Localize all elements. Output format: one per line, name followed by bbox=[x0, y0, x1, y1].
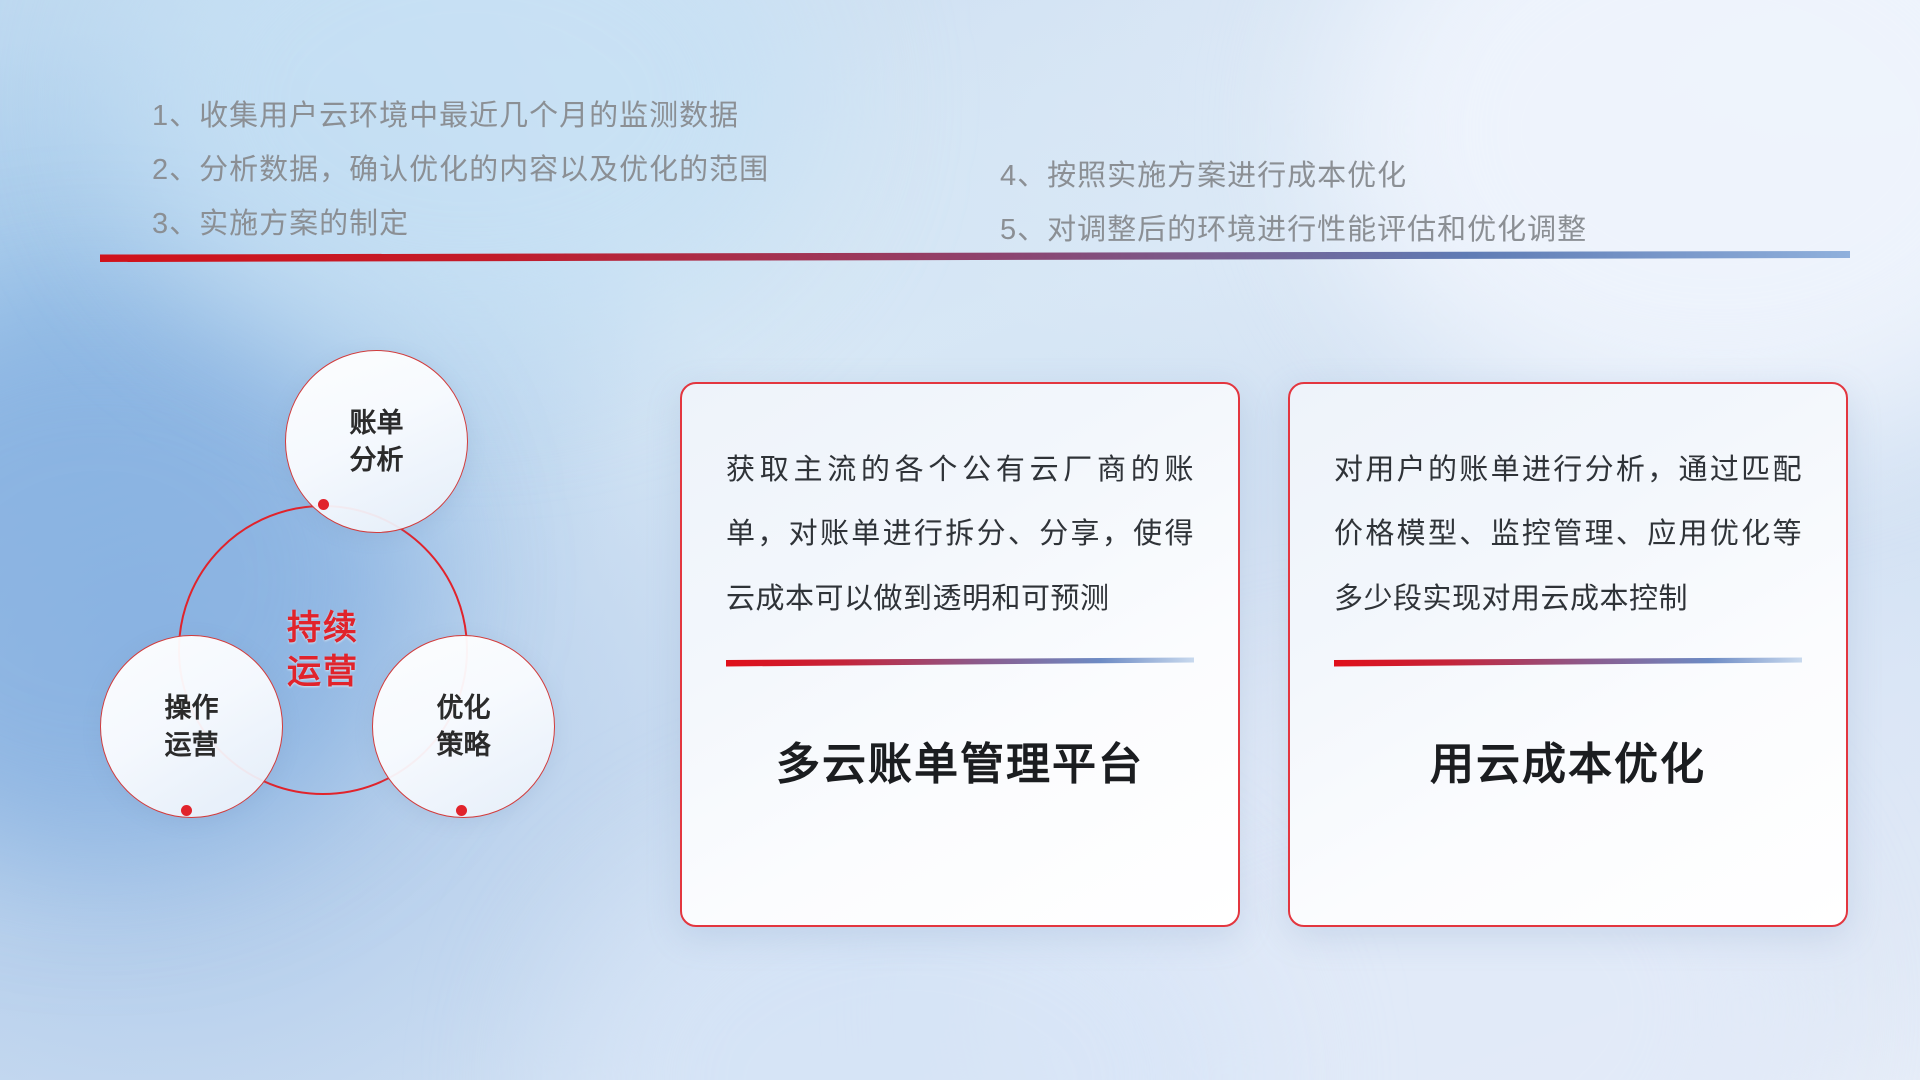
step-item: 3、实施方案的制定 bbox=[152, 210, 769, 239]
feature-card-cloud-cost-optimization[interactable]: 对用户的账单进行分析，通过匹配价格模型、监控管理、应用优化等多少段实现对用云成本… bbox=[1288, 382, 1848, 927]
step-item: 5、对调整后的环境进行性能评估和优化调整 bbox=[1000, 216, 1587, 245]
steps-left-column: 1、收集用户云环境中最近几个月的监测数据 2、分析数据，确认优化的内容以及优化的… bbox=[152, 102, 769, 264]
venn-node-dot-right bbox=[456, 805, 467, 816]
venn-center-label: 持续 运营 bbox=[178, 505, 468, 795]
card-body-text: 获取主流的各个公有云厂商的账单，对账单进行拆分、分享，使得云成本可以做到透明和可… bbox=[726, 438, 1194, 631]
section-divider bbox=[100, 251, 1850, 265]
step-item: 4、按照实施方案进行成本优化 bbox=[1000, 162, 1587, 191]
slide-canvas: 1、收集用户云环境中最近几个月的监测数据 2、分析数据，确认优化的内容以及优化的… bbox=[0, 0, 1920, 1080]
venn-center-label-line1: 持续 bbox=[287, 606, 359, 650]
feature-card-multicloud-billing[interactable]: 获取主流的各个公有云厂商的账单，对账单进行拆分、分享，使得云成本可以做到透明和可… bbox=[680, 382, 1240, 927]
card-body-text: 对用户的账单进行分析，通过匹配价格模型、监控管理、应用优化等多少段实现对用云成本… bbox=[1334, 438, 1802, 631]
card-title: 用云成本优化 bbox=[1334, 728, 1802, 792]
step-item: 1、收集用户云环境中最近几个月的监测数据 bbox=[152, 102, 769, 131]
card-divider bbox=[726, 657, 1194, 669]
venn-center-label-line2: 运营 bbox=[287, 650, 359, 694]
venn-circle-label-line2: 分析 bbox=[350, 442, 404, 478]
venn-diagram: 持续 运营 账单 分析 操作 运营 优化 策略 bbox=[100, 350, 630, 950]
card-divider bbox=[1334, 657, 1802, 669]
venn-node-dot-left bbox=[181, 805, 192, 816]
venn-circle-label-line1: 账单 bbox=[350, 405, 404, 441]
step-item: 2、分析数据，确认优化的内容以及优化的范围 bbox=[152, 156, 769, 185]
card-title: 多云账单管理平台 bbox=[726, 728, 1194, 792]
venn-node-dot-top bbox=[318, 499, 329, 510]
